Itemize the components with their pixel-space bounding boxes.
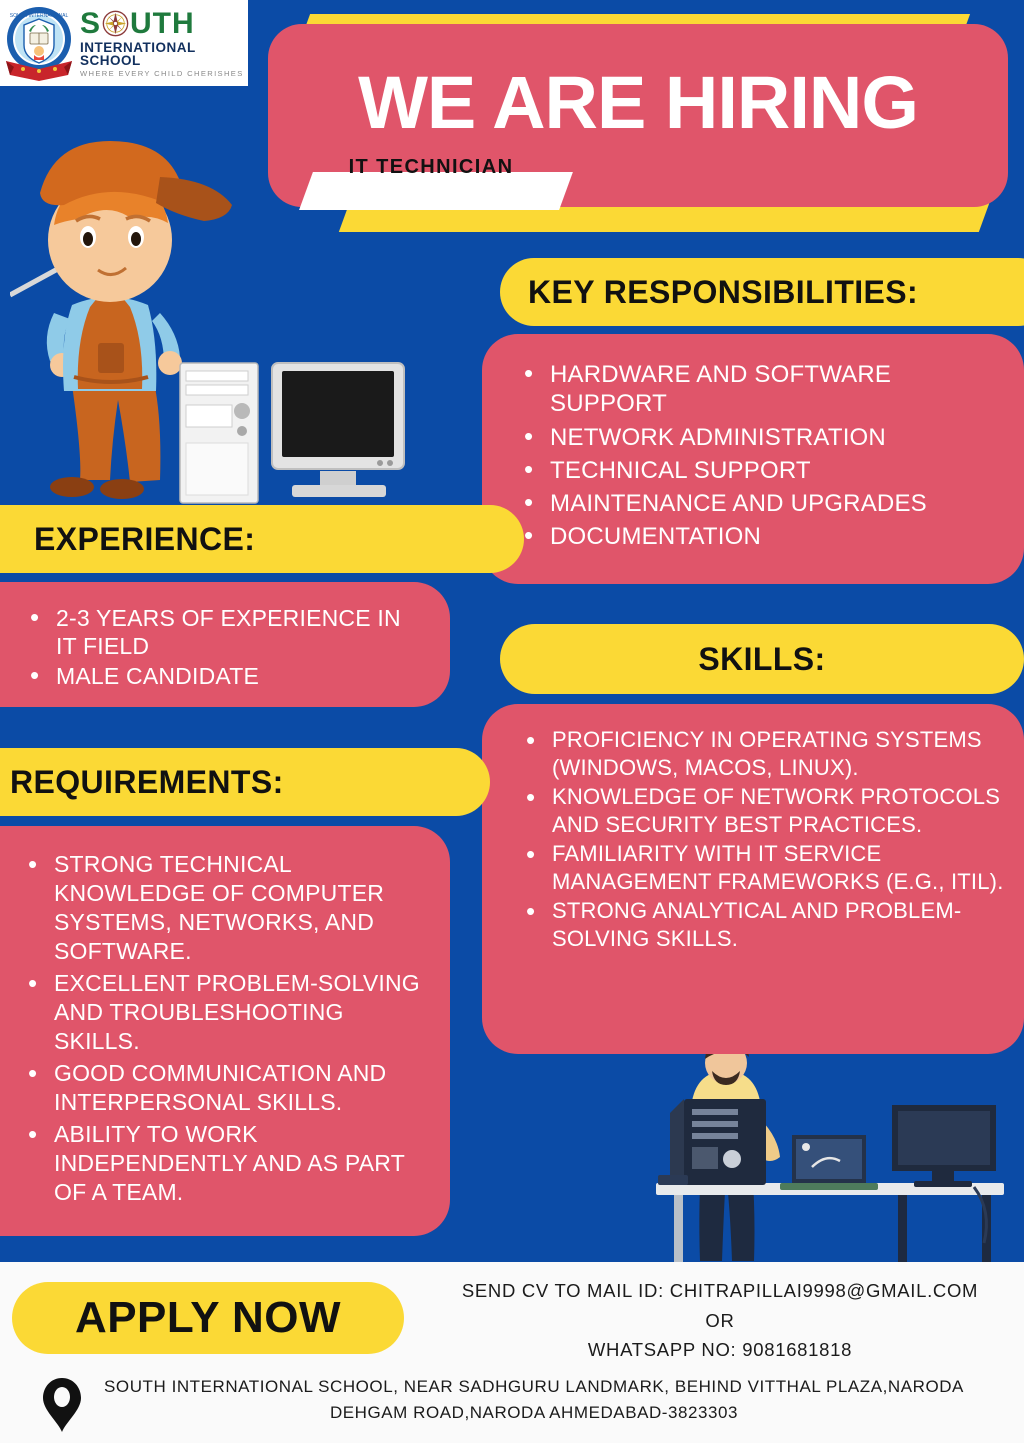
- list-item: ABILITY TO WORK INDEPENDENTLY AND AS PAR…: [20, 1120, 426, 1207]
- list-item: 2-3 YEARS OF EXPERIENCE IN IT FIELD: [22, 604, 426, 660]
- list-item: DOCUMENTATION: [516, 522, 996, 551]
- section-panel-key-responsibilities: HARDWARE AND SOFTWARE SUPPORT NETWORK AD…: [482, 334, 1024, 584]
- key-responsibilities-list: HARDWARE AND SOFTWARE SUPPORT NETWORK AD…: [482, 334, 1024, 552]
- school-wordmark: S UTH INTERNATIONAL SCHOOL WHERE E: [80, 9, 248, 78]
- list-item: EXCELLENT PROBLEM-SOLVING AND TROUBLESHO…: [20, 969, 426, 1056]
- experience-list: 2-3 YEARS OF EXPERIENCE IN IT FIELD MALE…: [0, 582, 450, 690]
- list-item: NETWORK ADMINISTRATION: [516, 423, 996, 452]
- man-assembling-pc-at-desk-illustration: [640, 1035, 1020, 1270]
- list-item: STRONG TECHNICAL KNOWLEDGE OF COMPUTER S…: [20, 850, 426, 966]
- hiring-poster: SOUTH INTERNATIONAL S: [0, 0, 1024, 1443]
- list-item: KNOWLEDGE OF NETWORK PROTOCOLS AND SECUR…: [518, 783, 1006, 838]
- requirements-list: STRONG TECHNICAL KNOWLEDGE OF COMPUTER S…: [0, 826, 450, 1207]
- section-heading-skills: SKILLS:: [500, 624, 1024, 694]
- compass-rose-icon: [102, 10, 129, 37]
- svg-text:SOUTH INTERNATIONAL: SOUTH INTERNATIONAL: [10, 13, 69, 19]
- address-row: SOUTH INTERNATIONAL SCHOOL, NEAR SADHGUR…: [0, 1374, 1024, 1440]
- map-pin-icon: [40, 1376, 84, 1434]
- skills-list: PROFICIENCY IN OPERATING SYSTEMS (WINDOW…: [482, 704, 1024, 952]
- contact-whatsapp-line: WHATSAPP NO: 9081681818: [420, 1335, 1020, 1365]
- wordmark-tagline: WHERE EVERY CHILD CHERISHES: [80, 70, 248, 78]
- contact-or-line: OR: [420, 1306, 1020, 1336]
- list-item: HARDWARE AND SOFTWARE SUPPORT: [516, 360, 996, 419]
- section-heading-experience: EXPERIENCE:: [0, 505, 524, 573]
- section-heading-requirements: REQUIREMENTS:: [0, 748, 490, 816]
- list-item: FAMILIARITY WITH IT SERVICE MANAGEMENT F…: [518, 840, 1006, 895]
- contact-block: SEND CV TO MAIL ID: CHITRAPILLAI9998@GMA…: [420, 1276, 1020, 1365]
- poster-footer: APPLY NOW SEND CV TO MAIL ID: CHITRAPILL…: [0, 1262, 1024, 1443]
- section-panel-experience: 2-3 YEARS OF EXPERIENCE IN IT FIELD MALE…: [0, 582, 450, 707]
- section-panel-skills: PROFICIENCY IN OPERATING SYSTEMS (WINDOW…: [482, 704, 1024, 1054]
- wordmark-letter-s: S: [80, 9, 101, 39]
- list-item: GOOD COMMUNICATION AND INTERPERSONAL SKI…: [20, 1059, 426, 1117]
- wordmark-subtitle: INTERNATIONAL SCHOOL: [80, 41, 248, 68]
- list-item: MAINTENANCE AND UPGRADES: [516, 489, 996, 518]
- section-heading-key-responsibilities: KEY RESPONSIBILITIES:: [500, 258, 1024, 326]
- list-item: STRONG ANALYTICAL AND PROBLEM-SOLVING SK…: [518, 897, 1006, 952]
- section-panel-requirements: STRONG TECHNICAL KNOWLEDGE OF COMPUTER S…: [0, 826, 450, 1236]
- role-title: IT TECHNICIAN: [306, 148, 556, 186]
- list-item: PROFICIENCY IN OPERATING SYSTEMS (WINDOW…: [518, 726, 1006, 781]
- address-line-1: SOUTH INTERNATIONAL SCHOOL, NEAR SADHGUR…: [84, 1374, 984, 1400]
- address-text: SOUTH INTERNATIONAL SCHOOL, NEAR SADHGUR…: [84, 1374, 1024, 1427]
- apply-now-button[interactable]: APPLY NOW: [12, 1282, 404, 1354]
- apply-now-label: APPLY NOW: [75, 1293, 341, 1343]
- contact-email-line: SEND CV TO MAIL ID: CHITRAPILLAI9998@GMA…: [420, 1276, 1020, 1306]
- school-crest-icon: SOUTH INTERNATIONAL: [2, 3, 76, 83]
- wordmark-letters-uth: UTH: [130, 9, 195, 39]
- school-logo-header: SOUTH INTERNATIONAL S: [0, 0, 248, 86]
- page-title: WE ARE HIRING: [268, 66, 1008, 140]
- list-item: TECHNICAL SUPPORT: [516, 456, 996, 485]
- list-item: MALE CANDIDATE: [22, 662, 426, 690]
- address-line-2: DEHGAM ROAD,NARODA AHMEDABAD-3823303: [84, 1400, 984, 1426]
